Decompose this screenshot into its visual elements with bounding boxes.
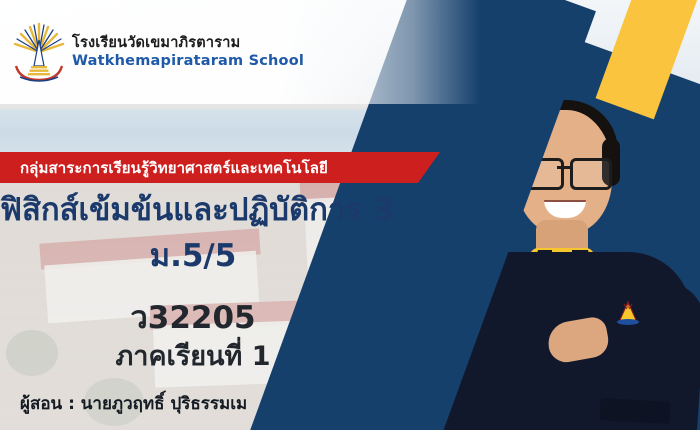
school-name-thai: โรงเรียนวัดเขมาภิรตาราม [72,34,304,52]
eyeglasses-lens-right [570,158,612,190]
course-banner: โรงเรียนวัดเขมาภิรตาราม Watkhemapiratara… [0,0,700,430]
eyeglasses-bridge [557,166,571,169]
school-name-block: โรงเรียนวัดเขมาภิรตาราม Watkhemapiratara… [72,34,304,71]
blazer-pocket [599,398,670,424]
header-white-band: โรงเรียนวัดเขมาภิรตาราม Watkhemapiratara… [0,0,480,104]
course-code: ว32205 [0,300,386,336]
course-title: ฟิสิกส์เข้มข้นและปฏิบัติการ 3 [0,192,386,228]
term-label: ภาคเรียนที่ 1 [0,341,386,373]
classroom-label: ม.5/5 [0,238,386,274]
subject-group-label: กลุ่มสาระการเรียนรู้วิทยาศาสตร์และเทคโนโ… [20,156,390,180]
school-emblem-icon [10,22,68,84]
school-name-english: Watkhemapirataram School [72,52,304,71]
school-crest-icon [616,300,640,326]
teacher-name-label: ผู้สอน : นายภูวฤทธิ์ ปุริธรรมเม [20,390,247,417]
